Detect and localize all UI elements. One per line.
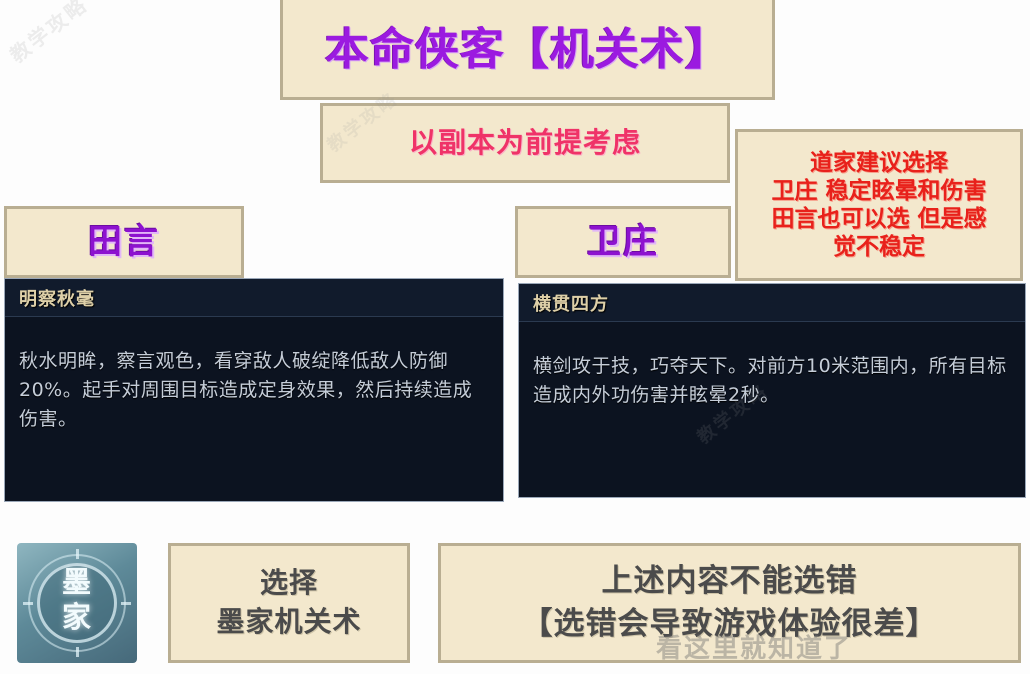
advice-line-4: 觉不稳定 [833,233,925,261]
skill-panel-weizhuang: 横贯四方 横剑攻于技，巧夺天下。对前方10米范围内，所有目标造成内外功伤害并眩晕… [518,283,1026,498]
character-name-tianyan: 田言 [88,223,160,261]
character-name-box-right: 卫庄 [515,206,731,278]
skill-description-right: 横剑攻于技，巧夺天下。对前方10米范围内，所有目标造成内外功伤害并眩晕2秒。 [533,352,1009,410]
icon-emblem-char-bottom: 家 [17,600,137,635]
icon-emblem-text: 墨 家 [17,565,137,636]
advice-callout-box: 道家建议选择 卫庄 稳定眩晕和伤害 田言也可以选 但是感 觉不稳定 [735,129,1023,281]
subtitle-text: 以副本为前提考虑 [409,127,641,158]
choose-instruction-box: 选择 墨家机关术 [168,543,410,663]
warning-line-1: 上述内容不能选错 [602,560,858,603]
skill-header-left: 明察秋毫 [5,279,503,317]
warning-box: 上述内容不能选错 【选错会导致游戏体验很差】 [438,543,1021,663]
icon-tick-bottom [76,647,79,657]
advice-line-3: 田言也可以选 但是感 [771,205,986,233]
skill-body-left: 秋水明眸，察言观色，看穿敌人破绽降低敌人防御20%。起手对周围目标造成定身效果，… [5,317,503,434]
character-name-box-left: 田言 [4,206,244,278]
skill-name-hengguansifang: 横贯四方 [533,290,609,316]
page-title: 本命侠客【机关术】 [325,9,730,74]
choose-line-1: 选择 [260,564,318,603]
skill-body-right: 横剑攻于技，巧夺天下。对前方10米范围内，所有目标造成内外功伤害并眩晕2秒。 [519,322,1025,410]
skill-name-mingchaqiuhao: 明察秋毫 [19,285,95,311]
skill-header-right: 横贯四方 [519,284,1025,322]
skill-description-left: 秋水明眸，察言观色，看穿敌人破绽降低敌人防御20%。起手对周围目标造成定身效果，… [19,347,487,434]
warning-line-2: 【选错会导致游戏体验很差】 [522,603,938,646]
subtitle-box: 以副本为前提考虑 [320,103,730,183]
character-name-weizhuang: 卫庄 [587,223,659,261]
mojia-sect-icon[interactable]: 墨 家 [17,543,137,663]
advice-line-1: 道家建议选择 [810,149,948,177]
advice-line-2: 卫庄 稳定眩晕和伤害 [771,177,986,205]
watermark-top-left: 教学攻略 [3,0,93,68]
title-box: 本命侠客【机关术】 [280,0,775,100]
skill-panel-tianyan: 明察秋毫 秋水明眸，察言观色，看穿敌人破绽降低敌人防御20%。起手对周围目标造成… [4,278,504,502]
choose-line-2: 墨家机关术 [216,603,361,642]
icon-tick-top [76,549,79,559]
icon-emblem-char-top: 墨 [17,565,137,600]
